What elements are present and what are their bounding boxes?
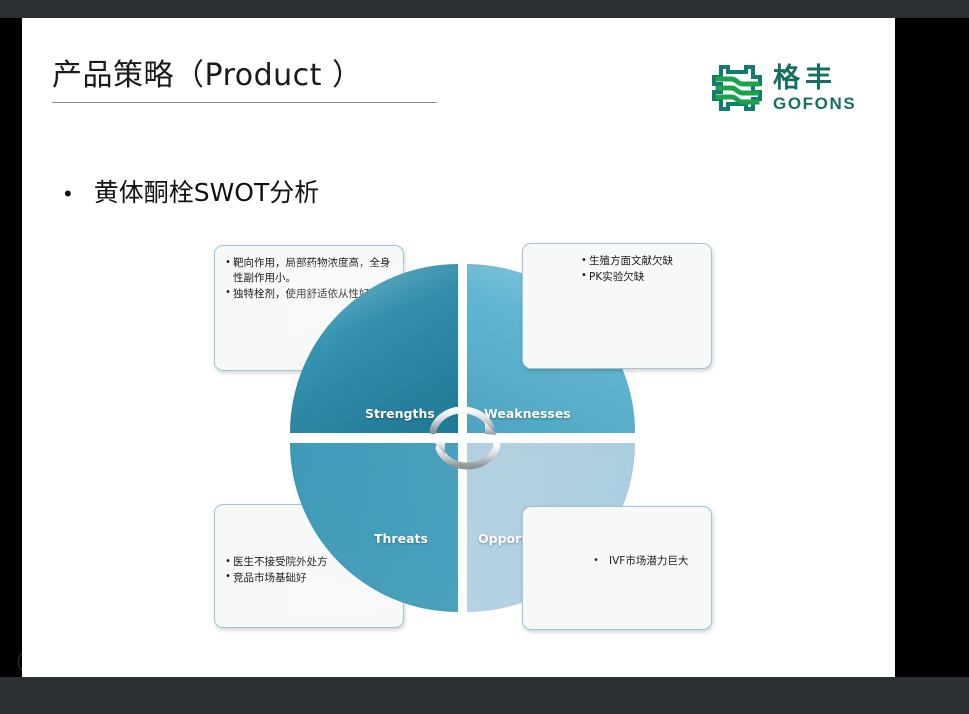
previous-slide-button[interactable]	[18, 648, 45, 675]
title-block: 产品策略（Product ）	[52, 58, 472, 103]
opportunities-list: IVF市场潜力巨大	[533, 554, 701, 569]
bullet-label: 黄体酮栓SWOT分析	[94, 173, 320, 209]
magnifier-icon	[169, 655, 182, 668]
list-item: PK实验欠缺	[581, 270, 701, 285]
page-title: 产品策略（Product ）	[52, 58, 472, 94]
brand-logo: 格丰 GOFONS	[710, 60, 875, 116]
swot-label-threats: Threats	[374, 531, 428, 546]
title-divider	[52, 102, 437, 103]
slide-overview-button[interactable]	[126, 648, 153, 675]
cycle-arrows-icon	[425, 397, 505, 479]
opportunities-textbox: IVF市场潜力巨大	[522, 506, 712, 630]
weaknesses-list: 生殖方面文献欠缺 PK实验欠缺	[533, 254, 701, 285]
list-item: IVF市场潜力巨大	[593, 554, 701, 569]
pen-icon	[97, 655, 110, 668]
bullet-marker: •	[64, 183, 72, 205]
ellipsis-icon	[204, 658, 219, 665]
slide-canvas: 产品策略（Product ） 格丰 GOFONS • 黄体酮栓SWOT分析	[22, 18, 895, 677]
viewer-top-chrome	[0, 0, 969, 18]
more-options-button[interactable]	[198, 648, 225, 675]
presentation-viewer: 产品策略（Product ） 格丰 GOFONS • 黄体酮栓SWOT分析	[0, 0, 969, 714]
swot-diagram: 靶向作用，局部药物浓度高，全身性副作用小。 独特栓剂，使用舒适依从性好。 生殖方…	[190, 225, 700, 625]
grid-slides-icon	[133, 655, 147, 668]
triangle-left-icon	[26, 656, 37, 667]
gofons-logo-mark-icon	[710, 63, 764, 113]
next-slide-button[interactable]	[54, 648, 81, 675]
player-toolbar	[18, 648, 225, 675]
pen-tool-button[interactable]	[90, 648, 117, 675]
zoom-button[interactable]	[162, 648, 189, 675]
content-bullet: • 黄体酮栓SWOT分析	[64, 173, 319, 209]
triangle-right-icon	[62, 656, 73, 667]
logo-wordmark: 格丰 GOFONS	[773, 65, 856, 112]
logo-chinese-name: 格丰	[773, 65, 856, 92]
list-item: 生殖方面文献欠缺	[581, 254, 701, 269]
logo-english-name: GOFONS	[773, 95, 856, 112]
viewer-bottom-chrome	[0, 677, 969, 714]
weaknesses-textbox: 生殖方面文献欠缺 PK实验欠缺	[522, 243, 712, 369]
